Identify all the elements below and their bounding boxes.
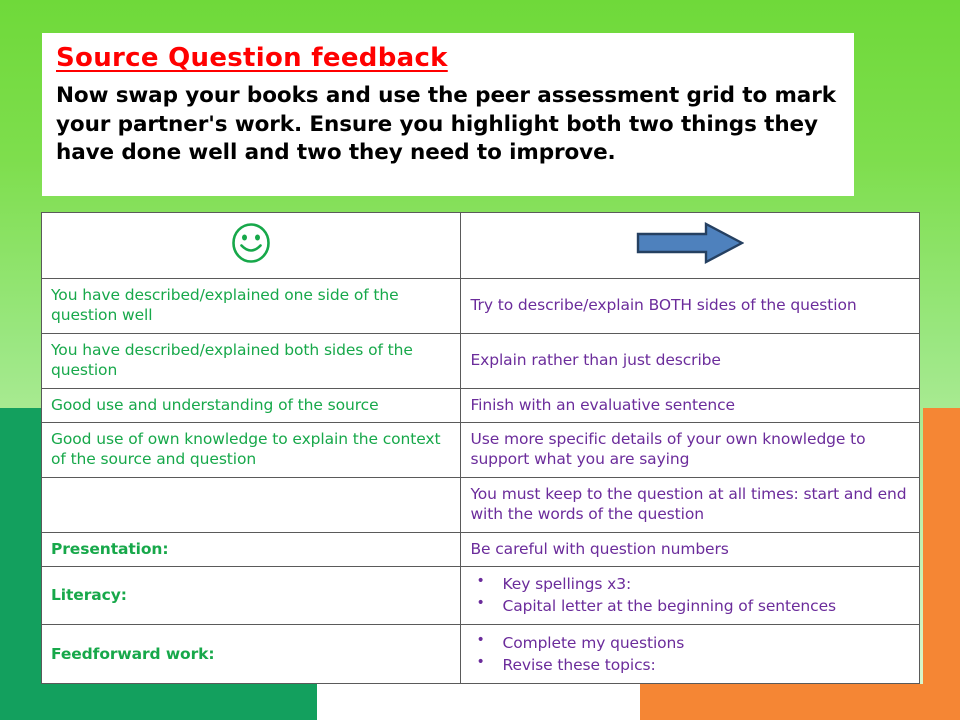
decorative-green-bottom-block	[0, 684, 317, 720]
strength-cell: Good use of own knowledge to explain the…	[42, 422, 461, 477]
header-cell-strengths	[42, 213, 461, 279]
improvement-cell: Key spellings x3: Capital letter at the …	[461, 566, 920, 625]
decorative-white-bottom-block	[317, 684, 640, 720]
table-row: Presentation: Be careful with question n…	[42, 532, 920, 566]
decorative-orange-bottom-block	[640, 684, 960, 720]
list-item: Complete my questions	[470, 632, 910, 654]
table-row: Good use of own knowledge to explain the…	[42, 422, 920, 477]
strength-cell: You have described/explained one side of…	[42, 279, 461, 334]
strength-label-literacy: Literacy:	[42, 566, 461, 625]
improvement-bullet-list: Complete my questions Revise these topic…	[470, 632, 910, 676]
list-item: Capital letter at the beginning of sente…	[470, 595, 910, 617]
title-card: Source Question feedback Now swap your b…	[42, 33, 854, 196]
smiley-face-icon	[229, 221, 273, 269]
list-item: Key spellings x3:	[470, 573, 910, 595]
improvement-cell: Try to describe/explain BOTH sides of th…	[461, 279, 920, 334]
improvement-cell: Be careful with question numbers	[461, 532, 920, 566]
header-cell-improvements	[461, 213, 920, 279]
strength-cell: You have described/explained both sides …	[42, 333, 461, 388]
table-row: Good use and understanding of the source…	[42, 388, 920, 422]
improvement-cell: Use more specific details of your own kn…	[461, 422, 920, 477]
instructions-text: Now swap your books and use the peer ass…	[56, 82, 838, 167]
improvement-cell: You must keep to the question at all tim…	[461, 477, 920, 532]
table-header-row	[42, 213, 920, 279]
table-row: You have described/explained one side of…	[42, 279, 920, 334]
right-arrow-icon	[636, 222, 744, 268]
strength-cell-empty	[42, 477, 461, 532]
strength-label-presentation: Presentation:	[42, 532, 461, 566]
decorative-green-left-block	[0, 408, 41, 720]
table-row: You must keep to the question at all tim…	[42, 477, 920, 532]
improvement-cell: Complete my questions Revise these topic…	[461, 625, 920, 684]
table-row: You have described/explained both sides …	[42, 333, 920, 388]
page-title: Source Question feedback	[56, 43, 838, 74]
improvement-cell: Explain rather than just describe	[461, 333, 920, 388]
improvement-cell: Finish with an evaluative sentence	[461, 388, 920, 422]
peer-assessment-grid: You have described/explained one side of…	[41, 212, 920, 684]
table-row: Literacy: Key spellings x3: Capital lett…	[42, 566, 920, 625]
strength-label-feedforward: Feedforward work:	[42, 625, 461, 684]
strength-cell: Good use and understanding of the source	[42, 388, 461, 422]
decorative-orange-right-block	[923, 408, 960, 720]
improvement-bullet-list: Key spellings x3: Capital letter at the …	[470, 573, 910, 617]
table-row: Feedforward work: Complete my questions …	[42, 625, 920, 684]
list-item: Revise these topics:	[470, 654, 910, 676]
slide-canvas: Source Question feedback Now swap your b…	[0, 0, 960, 720]
